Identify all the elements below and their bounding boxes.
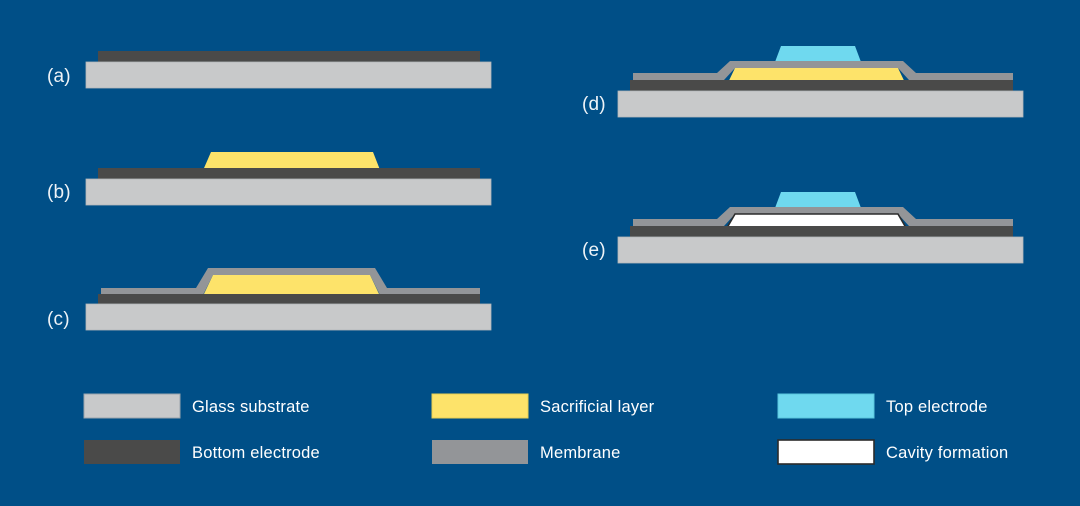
legend-item-sacrificial-layer: Sacrificial layer (432, 394, 655, 418)
panel-b-label: (b) (47, 182, 71, 203)
panel-d-glass-substrate (618, 91, 1023, 117)
panel-b: (b) (47, 152, 491, 205)
legend-swatch-cavity-formation (778, 440, 874, 464)
panel-d-top-electrode (775, 46, 861, 62)
legend-item-cavity-formation: Cavity formation (778, 440, 1008, 464)
panel-a-label: (a) (47, 66, 71, 87)
legend-swatch-sacrificial-layer (432, 394, 528, 418)
legend-swatch-top-electrode (778, 394, 874, 418)
panel-e-label: (e) (582, 240, 606, 261)
process-flow-diagram: (a) (b) (c) (0, 0, 1080, 506)
panel-c-label: (c) (47, 309, 70, 330)
panel-c-glass-substrate (86, 304, 491, 330)
legend-swatch-bottom-electrode (84, 440, 180, 464)
panel-c: (c) (47, 268, 491, 330)
panel-d-bottom-electrode (630, 80, 1013, 92)
legend-label-top-electrode: Top electrode (886, 398, 988, 416)
legend-label-bottom-electrode: Bottom electrode (192, 444, 320, 462)
legend-item-membrane: Membrane (432, 440, 620, 464)
legend-label-membrane: Membrane (540, 444, 620, 462)
panel-c-sacrificial-layer (203, 275, 380, 296)
panel-e: (e) (582, 192, 1023, 263)
legend-label-cavity-formation: Cavity formation (886, 444, 1008, 462)
legend-item-bottom-electrode: Bottom electrode (84, 440, 320, 464)
legend-swatch-glass-substrate (84, 394, 180, 418)
panel-e-bottom-electrode (630, 226, 1013, 238)
legend-label-glass-substrate: Glass substrate (192, 398, 310, 416)
panel-a-bottom-electrode (98, 51, 480, 63)
panel-e-top-electrode (775, 192, 861, 208)
legend-item-glass-substrate: Glass substrate (84, 394, 310, 418)
figure-canvas: (a) (b) (c) (0, 0, 1080, 506)
legend: Glass substrate Bottom electrode Sacrifi… (84, 394, 1008, 464)
legend-swatch-membrane (432, 440, 528, 464)
legend-label-sacrificial-layer: Sacrificial layer (540, 398, 655, 416)
panel-b-glass-substrate (86, 179, 491, 205)
panel-a: (a) (47, 51, 491, 88)
panel-e-glass-substrate (618, 237, 1023, 263)
panel-b-bottom-electrode (98, 168, 480, 180)
panel-d: (d) (582, 46, 1023, 117)
legend-item-top-electrode: Top electrode (778, 394, 988, 418)
panel-a-glass-substrate (86, 62, 491, 88)
panel-c-bottom-electrode (98, 294, 480, 305)
panel-d-label: (d) (582, 94, 606, 115)
